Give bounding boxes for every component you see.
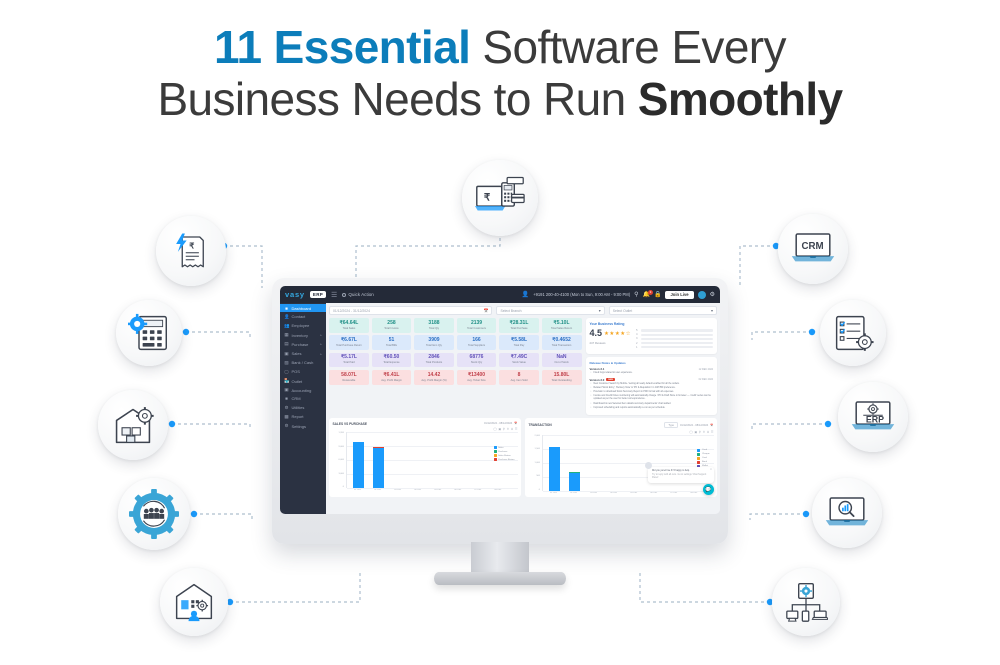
kpi-card[interactable]: ₹5.58LTotal Pay — [499, 335, 539, 350]
kpi-card[interactable]: ₹6.41LAvg. Profit Margin — [372, 370, 412, 385]
filter-bar: 01/12/2024 - 31/12/2024 📅 Select Branch … — [329, 306, 717, 315]
x-axis: 01 Dec 02 Dec 03 Dec 04 Dec 05 Dec 06 De… — [333, 489, 518, 491]
legend-label: Sales — [498, 447, 503, 449]
bell-icon[interactable]: 🔔3 — [642, 292, 649, 298]
bank-icon: ▧ — [284, 360, 289, 366]
rating-bar-row: 1 — [636, 346, 713, 349]
rating-star-num: 3 — [636, 337, 639, 340]
legend-item[interactable]: Sales — [494, 446, 515, 449]
sidebar: ■ Dashboard 👤 Contact 👥 Employee ▦ — [280, 303, 326, 514]
kpi-label: Total Purchase — [500, 328, 538, 331]
kpi-label: Avg. Profit Margin (%) — [415, 380, 453, 383]
chat-submessage: Try to reply with all ours. Go to settin… — [652, 474, 710, 480]
kpi-label: Total Paid — [330, 362, 368, 365]
register-icon: ▢ — [284, 369, 289, 375]
right-column: Your Business Rating 4.5 ★★★★☆ 247 Revie… — [586, 318, 718, 415]
billing-invoice-icon[interactable]: ₹ — [156, 216, 226, 286]
invoice-glyph: ₹ — [170, 230, 212, 272]
bar-column[interactable] — [448, 432, 468, 488]
y-tick: 6,000 — [339, 459, 344, 461]
kpi-card[interactable]: ₹28.31LTotal Purchase — [499, 318, 539, 333]
svg-text:ERP: ERP — [866, 414, 884, 424]
sidebar-item-label: Bank / Cash — [292, 360, 314, 365]
menu-icon[interactable]: ☰ — [515, 427, 518, 431]
network-devices-icon[interactable] — [772, 568, 840, 636]
pos-terminal-glyph: ₹ — [475, 176, 525, 220]
sidebar-item-label: Settings — [292, 424, 306, 429]
release-note-item: New Customer Search by Mobile / setting … — [590, 383, 714, 386]
box-icon: ▦ — [284, 332, 289, 338]
main-content: 01/12/2024 - 31/12/2024 📅 Select Branch … — [326, 303, 720, 514]
kpi-label: Total Invoice — [373, 328, 411, 331]
legend-label: Cash — [702, 449, 707, 451]
y-tick: 9,000 — [339, 446, 344, 448]
app-logo[interactable]: vasy — [285, 290, 305, 299]
kpi-label: Total Suppliers — [458, 345, 496, 348]
calendar-icon: 📅 — [710, 424, 713, 427]
kpi-card[interactable]: 15.80LTotal Outstanding — [542, 370, 582, 385]
contact-info: +9191 200-40-4100 (Mon to Sun, 9:00 AM -… — [533, 292, 630, 297]
kpi-value: ₹6.41L — [373, 373, 411, 379]
bar-column[interactable] — [388, 432, 408, 488]
kpi-label: Total Purchase Return — [330, 345, 368, 348]
lock-icon[interactable]: 🔒 — [654, 292, 661, 298]
reset-zoom-icon[interactable]: ◯ — [689, 430, 692, 434]
sidebar-item-label: Employee — [292, 323, 310, 328]
infographic-root: 11 Essential Software Every Business Nee… — [0, 0, 1000, 665]
zoom-out-icon[interactable]: ⚱ — [507, 427, 510, 431]
svg-text:₹: ₹ — [484, 193, 491, 204]
x-tick: 01 Dec — [348, 489, 368, 491]
kpi-label: Total Sales — [330, 328, 368, 331]
sidebar-item-label: CRM — [292, 396, 301, 401]
release-version-row[interactable]: Version 3.0 NEW 02 DEC 2024 — [590, 378, 714, 382]
topbar-right-group: 👤 +9191 200-40-4100 (Mon to Sun, 9:00 AM… — [522, 291, 715, 299]
crm-icon[interactable]: CRM — [778, 214, 848, 284]
release-notes-title: Release Notes & Updates — [590, 361, 714, 365]
x-axis: 01 Dec 02 Dec 03 Dec 04 Dec 05 Dec 06 De… — [529, 492, 714, 494]
chart-toolbar[interactable]: ◯ ▣ ⚲ ⚱ ⬇ ☰ — [529, 430, 714, 434]
y-tick: 0 — [539, 489, 540, 491]
payment-pos-icon[interactable]: ₹ — [462, 160, 538, 236]
rating-bar-track — [641, 334, 713, 336]
store-icon: 🏪 — [284, 378, 289, 384]
legend-label: Bank — [702, 461, 707, 463]
release-version-row[interactable]: Version 3.1 12 DEC 2024 — [590, 367, 714, 371]
chart-range-label: 01/12/2024 - 08/12/2024 — [484, 422, 512, 425]
kpi-value: ₹13400 — [458, 373, 496, 379]
rating-bar-row: 5 — [636, 329, 713, 332]
team-gear-glyph — [129, 489, 179, 539]
y-tick: 2,000 — [535, 435, 540, 437]
quick-action-button[interactable]: Quick Action — [342, 292, 374, 297]
monitor-bezel: vasy ERP ☰ Quick Action 👤 +9191 200-40-4… — [272, 278, 728, 544]
sidebar-item-contact[interactable]: 👤 Contact — [280, 312, 326, 321]
accounting-calculator-icon[interactable] — [116, 300, 182, 366]
calculator-gear-glyph — [128, 313, 170, 353]
x-tick: 03 Dec — [584, 492, 604, 494]
bar-column[interactable] — [584, 435, 604, 491]
kpi-label: Stock Value — [500, 362, 538, 365]
kpi-value: 3909 — [415, 338, 453, 344]
x-tick: 02 Dec — [368, 489, 388, 491]
chevron-down-icon: ▾ — [599, 308, 601, 313]
quick-action-label: Quick Action — [348, 292, 374, 297]
kpi-card[interactable]: 258Total Invoice — [372, 318, 412, 333]
x-tick: 08 Dec — [488, 489, 508, 491]
chart-range-label: 01/12/2024 - 08/12/2024 — [680, 424, 708, 427]
kpi-label: Avg. Ticket Size — [458, 380, 496, 383]
charts-row: SALES VS PURCHASE 01/12/2024 - 08/12/202… — [329, 418, 717, 497]
kpi-card[interactable]: 2139Total Customers — [457, 318, 497, 333]
app-body: ■ Dashboard 👤 Contact 👥 Employee ▦ — [280, 303, 720, 514]
release-note-item: Related 'Stock Entry', 'Delivery Note' &… — [590, 387, 714, 390]
kpi-label: Avg. Profit Margin — [373, 380, 411, 383]
menu-icon[interactable]: ☰ — [711, 430, 714, 434]
kpi-value: ₹64.64L — [330, 321, 368, 327]
chart-bars — [347, 432, 518, 488]
release-version-label: Version 3.0 — [590, 378, 605, 382]
checklist-gear-glyph — [832, 313, 874, 353]
chart-legend: Sales Purchase Sales Return Purchase Ret… — [494, 446, 515, 462]
svg-text:CRM: CRM — [802, 241, 824, 252]
monitor-stand-neck — [471, 542, 529, 574]
sidebar-item-bank-cash[interactable]: ▧ Bank / Cash — [280, 358, 326, 367]
y-tick: 500 — [536, 475, 540, 477]
warehouse-glyph — [111, 404, 155, 446]
x-tick: 07 Dec — [468, 489, 488, 491]
outlet-filter[interactable]: Select Outlet ▾ — [609, 306, 717, 315]
kpi-card[interactable]: 14.42Avg. Profit Margin (%) — [414, 370, 454, 385]
chart-controls[interactable]: Type 01/12/2024 - 08/12/2024 📅 — [664, 422, 713, 429]
x-tick: 02 Dec — [564, 492, 584, 494]
x-tick: 05 Dec — [428, 489, 448, 491]
analytics-magnifier-glyph — [824, 493, 870, 533]
sidebar-item-sales[interactable]: ▣ Sales ▸ — [280, 349, 326, 358]
rating-bar-row: 3 — [636, 337, 713, 340]
sidebar-item-label: Dashboard — [292, 306, 312, 311]
network-topology-glyph — [784, 581, 828, 623]
hr-team-gear-icon[interactable] — [118, 478, 190, 550]
sidebar-item-purchase[interactable]: ▤ Purchase ▸ — [280, 340, 326, 349]
legend-item[interactable]: Sales Return — [494, 454, 515, 457]
kpi-label: Total Customers — [458, 328, 496, 331]
chart-toolbar[interactable]: ◯ ▣ ⚲ ⚱ ⬇ ☰ — [333, 427, 518, 431]
join-live-button[interactable]: Join Live — [665, 291, 693, 299]
legend-item[interactable]: Cheque — [697, 453, 710, 456]
rating-bar-track — [641, 338, 713, 340]
erp-icon[interactable]: ERP — [838, 382, 908, 452]
reset-zoom-icon[interactable]: ◯ — [493, 427, 496, 431]
bar-column[interactable] — [349, 432, 369, 488]
search-icon[interactable]: ⚲ — [634, 292, 638, 298]
kpi-label: Avg. Item Sold — [500, 380, 538, 383]
kpi-card[interactable]: ₹5.10LTotal Sales Return — [542, 318, 582, 333]
ledger-icon: ▣ — [284, 387, 289, 393]
bar-column[interactable] — [624, 435, 644, 491]
kpi-value: NaN — [543, 355, 581, 361]
gear-icon: ⚙ — [284, 423, 289, 429]
kpi-card[interactable]: ₹6.67LTotal Purchase Return — [329, 335, 369, 350]
date-range-filter[interactable]: 01/12/2024 - 31/12/2024 📅 — [329, 306, 492, 315]
sidebar-item-label: Purchase — [292, 342, 309, 347]
chart-date-range[interactable]: 01/12/2024 - 08/12/2024 📅 — [484, 422, 518, 425]
kpi-card[interactable]: 3909Total Item Qty — [414, 335, 454, 350]
legend-item[interactable]: Cash — [697, 449, 710, 452]
pan-icon[interactable]: ▣ — [694, 430, 697, 434]
zoom-in-icon[interactable]: ⚲ — [503, 427, 505, 431]
calendar-icon: 📅 — [483, 308, 488, 313]
bar-column[interactable] — [468, 432, 488, 488]
release-note-item: Improved scheduling and reports automati… — [590, 407, 714, 410]
rating-card: Your Business Rating 4.5 ★★★★☆ 247 Revie… — [586, 318, 718, 354]
svg-text:₹: ₹ — [189, 241, 194, 250]
close-icon[interactable]: ✕ — [710, 468, 712, 472]
rating-star-num: 5 — [636, 329, 639, 332]
legend-item[interactable]: Purchase Return — [494, 458, 515, 461]
kpi-card[interactable]: 51Total Bills — [372, 335, 412, 350]
avatar[interactable] — [698, 291, 706, 299]
kpi-value: 3188 — [415, 321, 453, 327]
user-icon: 👤 — [284, 314, 289, 320]
x-tick: 05 Dec — [624, 492, 644, 494]
rating-distribution: 5 4 3 2 1 — [636, 329, 713, 350]
y-tick: 1,200 — [339, 432, 344, 434]
sidebar-item-settings[interactable]: ⚙ Settings — [280, 421, 326, 430]
kpi-value: ₹28.31L — [500, 321, 538, 327]
y-tick: 1,000 — [535, 462, 540, 464]
new-badge: NEW — [606, 378, 615, 381]
app-topbar: vasy ERP ☰ Quick Action 👤 +9191 200-40-4… — [280, 286, 720, 303]
kpi-value: ₹60.50 — [373, 355, 411, 361]
inventory-warehouse-icon[interactable] — [98, 390, 168, 460]
kpi-label: Total Expense — [373, 362, 411, 365]
chart-title: SALES VS PURCHASE — [333, 422, 368, 426]
bar-column[interactable] — [545, 435, 565, 491]
monitor-screen: vasy ERP ☰ Quick Action 👤 +9191 200-40-4… — [280, 286, 720, 514]
y-axis: 2,000 1,500 1,000 500 0 — [529, 435, 542, 491]
legend-item[interactable]: Bank — [697, 461, 710, 464]
sidebar-item-accounting[interactable]: ▣ Accounting — [280, 386, 326, 395]
kpi-card[interactable]: 3188Total Qty — [414, 318, 454, 333]
sidebar-item-crm[interactable]: ■ CRM — [280, 395, 326, 403]
chart-icon: ▩ — [284, 414, 289, 420]
rating-star-num: 2 — [636, 342, 639, 345]
bar-column[interactable] — [408, 432, 428, 488]
erp-laptop-glyph: ERP — [850, 397, 896, 437]
sidebar-item-label: Inventory — [292, 333, 308, 338]
rating-star-num: 1 — [636, 346, 639, 349]
chat-popup[interactable]: ✕ Did you ya tell me if I'll happy to he… — [648, 467, 714, 484]
transaction-chart: TRANSACTION Type 01/12/2024 - 08/12/2024… — [525, 418, 717, 497]
chart-header: SALES VS PURCHASE 01/12/2024 - 08/12/202… — [333, 422, 518, 426]
kpi-label: Total Bills — [373, 345, 411, 348]
sidebar-item-label: Utilities — [292, 405, 305, 410]
y-tick: 3,000 — [339, 473, 344, 475]
branch-filter[interactable]: Select Branch ▾ — [496, 306, 604, 315]
task-checklist-icon[interactable] — [820, 300, 886, 366]
tag-icon: ▣ — [284, 351, 289, 357]
kpi-value: 68776 — [458, 355, 496, 361]
x-tick: 08 Dec — [684, 492, 704, 494]
zoom-out-icon[interactable]: ⚱ — [703, 430, 706, 434]
cart-icon: ▤ — [284, 341, 289, 347]
x-tick: 06 Dec — [644, 492, 664, 494]
kpi-card[interactable]: ₹64.64LTotal Sales — [329, 318, 369, 333]
kpi-value: 258 — [373, 321, 411, 327]
chevron-down-icon: ▾ — [711, 308, 713, 313]
desktop-monitor: vasy ERP ☰ Quick Action 👤 +9191 200-40-4… — [272, 278, 728, 568]
y-tick: 0 — [343, 486, 344, 488]
kpi-value: 58.07L — [330, 373, 368, 379]
chat-avatar — [645, 462, 652, 469]
release-note-item: Fixed bugs related to user experience. — [590, 372, 714, 375]
bar-column[interactable] — [604, 435, 624, 491]
x-tick: 04 Dec — [408, 489, 428, 491]
sidebar-item-outlet[interactable]: 🏪 Outlet — [280, 377, 326, 386]
bar-column[interactable] — [564, 435, 584, 491]
kpi-column: ₹64.64LTotal Sales 258Total Invoice 3188… — [329, 318, 582, 415]
kpi-card[interactable]: ₹0.4652Total Transaction — [542, 335, 582, 350]
rating-score: 4.5 — [590, 329, 603, 338]
kpi-label: Total Products — [415, 362, 453, 365]
kpi-label: Total Qty — [415, 328, 453, 331]
legend-label: Sales Return — [498, 455, 511, 457]
rating-bar-row: 4 — [636, 333, 713, 336]
sidebar-item-label: Sales — [292, 351, 302, 356]
kpi-value: 51 — [373, 338, 411, 344]
bar-column[interactable] — [428, 432, 448, 488]
download-icon[interactable]: ⬇ — [707, 430, 710, 434]
kpi-value: 2139 — [458, 321, 496, 327]
x-tick: 03 Dec — [388, 489, 408, 491]
chart-header: TRANSACTION Type 01/12/2024 - 08/12/2024… — [529, 422, 714, 429]
chevron-down-icon: ▸ — [320, 333, 322, 337]
sidebar-item-label: Report — [292, 414, 304, 419]
kpi-grid: ₹64.64LTotal Sales 258Total Invoice 3188… — [329, 318, 582, 385]
kpi-label: Receivable — [330, 380, 368, 383]
kpi-value: ₹0.4652 — [543, 338, 581, 344]
date-range-value: 01/12/2024 - 31/12/2024 — [333, 309, 370, 313]
rating-score-group: 4.5 ★★★★☆ 247 Reviews — [590, 329, 632, 345]
grid-icon: ■ — [284, 306, 289, 311]
zoom-in-icon[interactable]: ⚲ — [699, 430, 701, 434]
chart-title: TRANSACTION — [529, 423, 552, 427]
kpi-value: 166 — [458, 338, 496, 344]
sidebar-item-label: POS — [292, 369, 300, 374]
x-tick: 07 Dec — [664, 492, 684, 494]
plus-circle-icon — [342, 293, 346, 297]
analytics-laptop-icon[interactable] — [812, 478, 882, 548]
release-note-item: Dashboard & new Selected Item details su… — [590, 403, 714, 406]
legend-label: Purchase Return — [498, 459, 514, 461]
hamburger-icon[interactable]: ☰ — [331, 291, 337, 299]
review-count: 247 Reviews — [590, 341, 632, 345]
rating-bar-track — [641, 342, 713, 344]
kpi-card[interactable]: ₹13400Avg. Ticket Size — [457, 370, 497, 385]
notification-badge: 3 — [648, 290, 653, 295]
kpi-card[interactable]: 2846Total Products — [414, 353, 454, 368]
star-icon: ★★★★☆ — [604, 331, 631, 337]
kpi-value: 8 — [500, 373, 538, 379]
kpi-card[interactable]: 8Avg. Item Sold — [499, 370, 539, 385]
chat-message: Did you ya tell me if I'll happy to help… — [652, 470, 710, 473]
kpi-value: 2846 — [415, 355, 453, 361]
kpi-card[interactable]: NaNOut of Stock — [542, 353, 582, 368]
download-icon[interactable]: ⬇ — [511, 427, 514, 431]
kpi-label: Total Sales Return — [543, 328, 581, 331]
release-note-item: Provision to download Stock Summary Repo… — [590, 391, 714, 394]
kpi-card[interactable]: ₹60.50Total Expense — [372, 353, 412, 368]
business-intelligence-icon[interactable] — [160, 568, 228, 636]
kpi-card[interactable]: ₹5.17LTotal Paid — [329, 353, 369, 368]
kpi-label: Total Pay — [500, 345, 538, 348]
sidebar-item-dashboard[interactable]: ■ Dashboard — [280, 304, 326, 312]
kpi-value: ₹5.17L — [330, 355, 368, 361]
bar-column[interactable] — [368, 432, 388, 488]
sidebar-item-utilities[interactable]: ⚙ Utilities — [280, 403, 326, 412]
calendar-icon: 📅 — [514, 422, 517, 425]
users-icon: 👥 — [284, 323, 289, 329]
release-date: 12 DEC 2024 — [699, 368, 713, 371]
branch-filter-value: Select Branch — [500, 309, 521, 313]
bi-dashboard-glyph — [172, 581, 216, 623]
release-date: 02 DEC 2024 — [699, 378, 713, 381]
handshake-icon: ■ — [284, 396, 289, 401]
content-row: ₹64.64LTotal Sales 258Total Invoice 3188… — [329, 318, 717, 415]
y-tick: 1,500 — [535, 448, 540, 450]
app-logo-badge: ERP — [310, 291, 326, 298]
kpi-card[interactable]: 166Total Suppliers — [457, 335, 497, 350]
legend-label: Cheque — [702, 453, 710, 455]
phone-icon: 👤 — [522, 292, 529, 298]
sidebar-item-label: Contact — [292, 314, 306, 319]
kpi-label: Stock Qty — [458, 362, 496, 365]
kpi-card[interactable]: 58.07LReceivable — [329, 370, 369, 385]
sidebar-item-label: Accounting — [292, 388, 312, 393]
chevron-down-icon: ▸ — [320, 352, 322, 356]
rating-card-title: Your Business Rating — [590, 322, 714, 326]
pan-icon[interactable]: ▣ — [498, 427, 501, 431]
kpi-label: Total Transaction — [543, 345, 581, 348]
type-filter[interactable]: Type — [664, 422, 678, 429]
chart-plot-area: 1,200 9,000 6,000 3,000 0 — [333, 432, 518, 488]
kpi-card[interactable]: 68776Stock Qty — [457, 353, 497, 368]
legend-item[interactable]: Purchase — [494, 450, 515, 453]
sidebar-item-employee[interactable]: 👥 Employee — [280, 321, 326, 330]
rating-bar-track — [641, 346, 713, 348]
rating-row: 4.5 ★★★★☆ 247 Reviews 5 4 — [590, 329, 714, 350]
sidebar-item-pos[interactable]: ▢ POS — [280, 367, 326, 376]
x-tick: 06 Dec — [448, 489, 468, 491]
y-axis: 1,200 9,000 6,000 3,000 0 — [333, 432, 346, 488]
rating-bar-track — [641, 329, 713, 331]
kpi-value: ₹5.58L — [500, 338, 538, 344]
sidebar-item-inventory[interactable]: ▦ Inventory ▸ — [280, 331, 326, 340]
kpi-value: 15.80L — [543, 373, 581, 379]
kpi-card[interactable]: ₹7.49CStock Value — [499, 353, 539, 368]
legend-label: Card — [702, 457, 707, 459]
sidebar-item-report[interactable]: ▩ Report — [280, 412, 326, 421]
legend-item[interactable]: Card — [697, 457, 710, 460]
sidebar-item-label: Outlet — [292, 379, 303, 384]
legend-label: Purchase — [498, 451, 507, 453]
sales-vs-purchase-chart: SALES VS PURCHASE 01/12/2024 - 08/12/202… — [329, 418, 521, 497]
chevron-down-icon: ▸ — [320, 342, 322, 346]
rating-star-num: 4 — [636, 333, 639, 336]
gear-icon[interactable]: ⚙ — [710, 291, 715, 298]
rating-bar-row: 2 — [636, 342, 713, 345]
